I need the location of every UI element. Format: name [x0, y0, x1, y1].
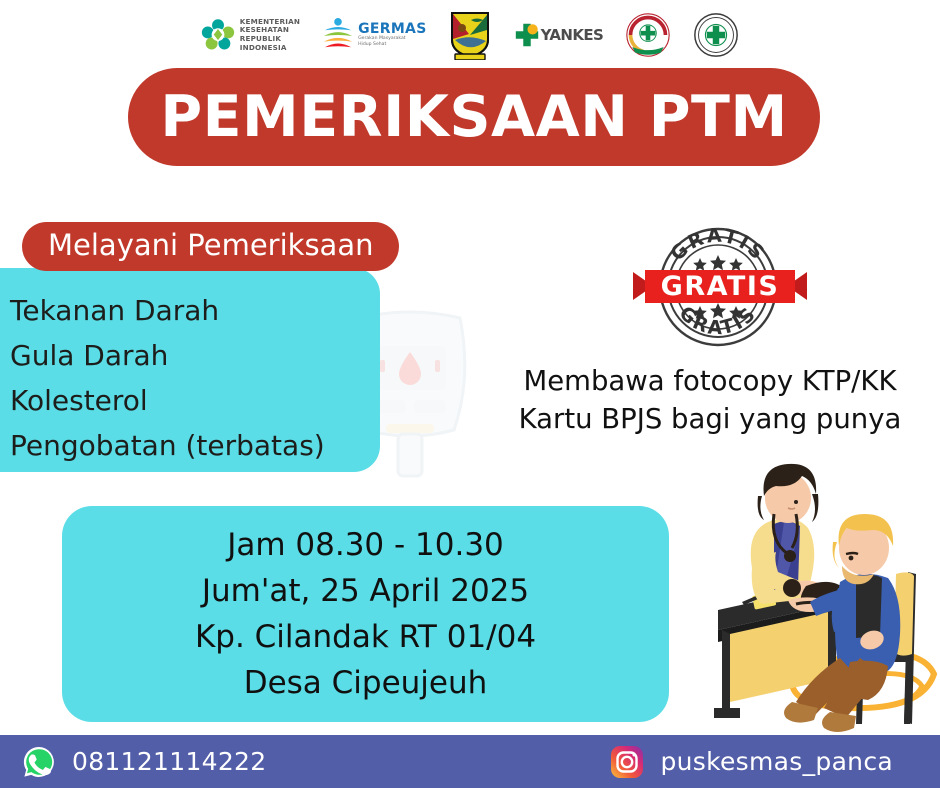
services-heading: Melayani Pemeriksaan: [48, 228, 373, 262]
schedule-time: Jam 08.30 - 10.30: [227, 522, 504, 568]
akreditasi-seal-logo: [625, 9, 671, 61]
schedule-date: Jum'at, 25 April 2025: [202, 568, 529, 614]
germas-title: GERMAS: [358, 22, 427, 36]
gratis-ribbon-label: GRATIS: [661, 271, 780, 302]
yankes-cross-icon: [513, 21, 541, 49]
puskesmas-seal-icon: [693, 12, 739, 58]
list-item: Pengobatan (terbatas): [10, 423, 410, 468]
kemenkes-wordmark: KEMENTERIAN KESEHATAN REPUBLIK INDONESIA: [240, 18, 300, 52]
germas-sub2: Hidup Sehat: [358, 42, 427, 48]
kemenkes-line4: INDONESIA: [240, 44, 300, 53]
yankes-wordmark: YANKES: [541, 26, 604, 44]
poster-root: KEMENTERIAN KESEHATAN REPUBLIK INDONESIA…: [0, 0, 940, 788]
kemenkes-mark-icon: [201, 18, 235, 52]
logo-strip: KEMENTERIAN KESEHATAN REPUBLIK INDONESIA…: [0, 6, 940, 64]
kemenkes-logo: KEMENTERIAN KESEHATAN REPUBLIK INDONESIA: [201, 9, 300, 61]
kabupaten-crest-icon: [449, 10, 491, 60]
title-banner: PEMERIKSAAN PTM: [128, 68, 820, 166]
instagram-icon[interactable]: [610, 745, 644, 779]
whatsapp-icon[interactable]: [22, 745, 56, 779]
schedule-box: Jam 08.30 - 10.30 Jum'at, 25 April 2025 …: [62, 506, 669, 722]
page-title: PEMERIKSAAN PTM: [160, 84, 787, 150]
services-heading-pill: Melayani Pemeriksaan: [22, 222, 399, 271]
services-list: Tekanan Darah Gula Darah Kolesterol Peng…: [10, 288, 410, 468]
instagram-contact[interactable]: puskesmas_panca: [610, 745, 893, 779]
requirement-line-2: Kartu BPJS bagi yang punya: [480, 400, 940, 438]
gratis-stamp: GRATIS GRATIS GRATIS: [625, 218, 815, 356]
requirements-text: Membawa fotocopy KTP/KK Kartu BPJS bagi …: [480, 362, 940, 438]
doctor-patient-illustration-icon: [700, 462, 940, 740]
instagram-handle: puskesmas_panca: [660, 748, 893, 776]
blood-pressure-check-illustration: [700, 462, 940, 740]
germas-mark-icon: [322, 17, 354, 53]
germas-wordmark: GERMAS Gerakan Masyarakat Hidup Sehat: [358, 22, 427, 47]
yankes-logo: YANKES: [513, 9, 604, 61]
whatsapp-contact[interactable]: 081121114222: [22, 745, 266, 779]
list-item: Gula Darah: [10, 333, 410, 378]
gratis-badge-icon: GRATIS GRATIS GRATIS: [625, 218, 815, 356]
puskesmas-seal-logo: [693, 9, 739, 61]
kabupaten-crest-logo: [449, 9, 491, 61]
germas-logo: GERMAS Gerakan Masyarakat Hidup Sehat: [322, 9, 427, 61]
akreditasi-seal-icon: [625, 12, 671, 58]
list-item: Tekanan Darah: [10, 288, 410, 333]
schedule-village: Desa Cipeujeuh: [244, 660, 488, 706]
requirement-line-1: Membawa fotocopy KTP/KK: [480, 362, 940, 400]
whatsapp-number: 081121114222: [72, 748, 266, 776]
schedule-address: Kp. Cilandak RT 01/04: [195, 614, 536, 660]
list-item: Kolesterol: [10, 378, 410, 423]
contact-footer: 081121114222 puskesmas_panca: [0, 735, 940, 788]
